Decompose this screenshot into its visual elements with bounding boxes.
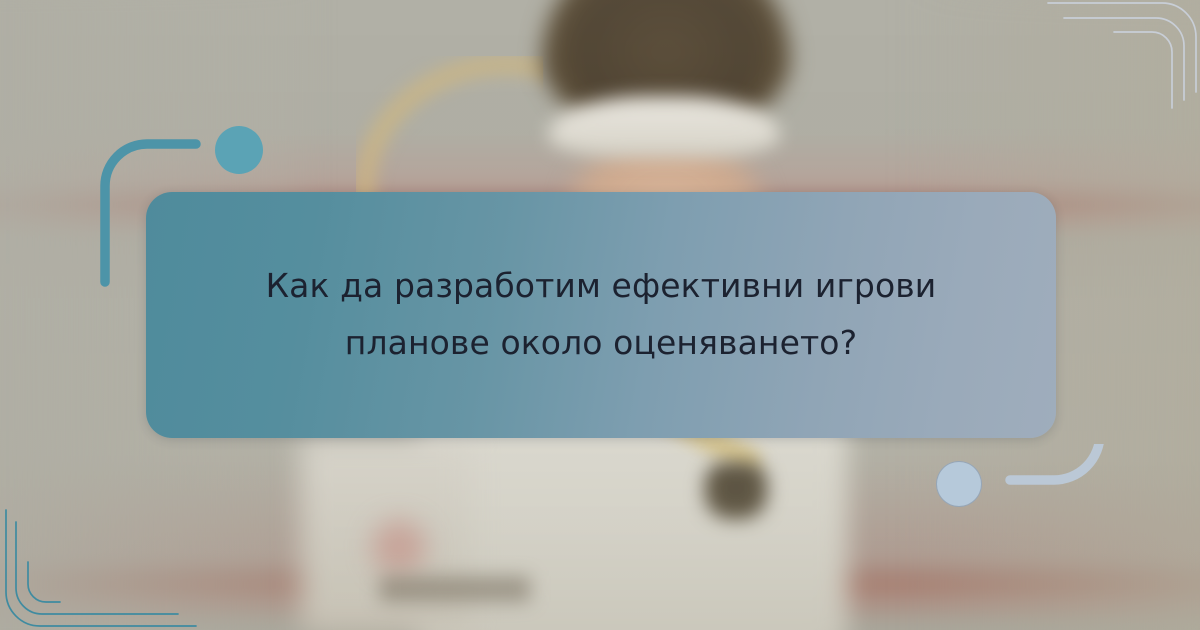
question-card: Как да разработим ефективни игрови плано… xyxy=(146,192,1056,438)
page-title: Как да разработим ефективни игрови плано… xyxy=(251,258,951,372)
teal-dot-icon xyxy=(215,126,263,174)
blue-dot-icon xyxy=(936,461,982,507)
poster-canvas: Как да разработим ефективни игрови плано… xyxy=(0,0,1200,630)
